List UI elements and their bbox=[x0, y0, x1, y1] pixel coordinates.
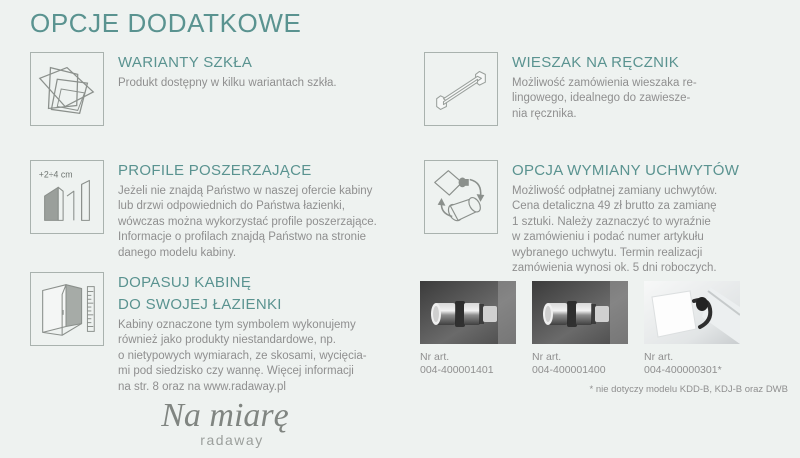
product-caption: Nr art. 004-400001401 bbox=[420, 351, 516, 377]
product-row: Nr art. 004-400001401 bbox=[420, 281, 790, 377]
feature-text: WARIANTY SZKŁA Produkt dostępny w kilku … bbox=[118, 52, 337, 91]
feature-text: DOPASUJ KABINĘ DO SWOJEJ ŁAZIENKI Kabiny… bbox=[118, 272, 367, 395]
towel-rail-icon bbox=[424, 52, 498, 126]
feature-body: Kabiny oznaczone tym symbolem wykonujemy… bbox=[118, 318, 367, 395]
feature-heading: WIESZAK NA RĘCZNIK bbox=[512, 54, 697, 71]
product-caption: Nr art. 004-400001400 bbox=[532, 351, 628, 377]
options-page: OPCJE DODATKOWE WARIANTY SZKŁA Produkt d… bbox=[0, 0, 800, 458]
logo-script-text: Na miarę bbox=[160, 397, 289, 434]
logo-artwork: Na miarę radaway bbox=[120, 392, 330, 452]
feature-heading: PROFILE POSZERZAJĄCE bbox=[118, 162, 377, 179]
product-card: Nr art. 004-400001400 bbox=[532, 281, 628, 377]
feature-glass-variants: WARIANTY SZKŁA Produkt dostępny w kilku … bbox=[30, 52, 337, 126]
product-card: Nr art. 004-400001401 bbox=[420, 281, 516, 377]
product-caption: Nr art. 004-400000301* bbox=[644, 351, 740, 377]
feature-text: PROFILE POSZERZAJĄCE Jeżeli nie znajdą P… bbox=[118, 160, 377, 261]
product-card: Nr art. 004-400000301* bbox=[644, 281, 740, 377]
chrome-knob-handle-photo bbox=[532, 281, 628, 344]
feature-heading: WARIANTY SZKŁA bbox=[118, 54, 337, 71]
feature-heading-line2: DO SWOJEJ ŁAZIENKI bbox=[118, 296, 367, 313]
handle-products: Nr art. 004-400001401 bbox=[420, 281, 790, 395]
extension-profile-icon-label: +2÷4 cm bbox=[39, 170, 73, 180]
glass-panes-icon bbox=[30, 52, 104, 126]
feature-body: Możliwość zamówienia wieszaka re- lingow… bbox=[512, 76, 697, 122]
na-miare-logo: Na miarę radaway bbox=[120, 392, 330, 452]
feature-extension-profiles: +2÷4 cm PROFILE POSZERZAJĄCE Jeżeli nie … bbox=[30, 160, 377, 261]
chrome-knob-handle-photo bbox=[420, 281, 516, 344]
products-footnote: * nie dotyczy modelu KDD-B, KDJ-B oraz D… bbox=[420, 384, 790, 395]
feature-handle-exchange: OPCJA WYMIANY UCHWYTÓW Możliwość odpłatn… bbox=[424, 160, 739, 276]
white-hook-handle-photo bbox=[644, 281, 740, 344]
feature-body: Jeżeli nie znajdą Państwo w naszej oferc… bbox=[118, 184, 377, 261]
handle-swap-icon bbox=[424, 160, 498, 234]
feature-body: Możliwość odpłatnej zamiany uchwytów. Ce… bbox=[512, 184, 739, 276]
logo-brand-text: radaway bbox=[200, 432, 263, 448]
feature-towel-rail: WIESZAK NA RĘCZNIK Możliwość zamówienia … bbox=[424, 52, 697, 126]
feature-text: OPCJA WYMIANY UCHWYTÓW Możliwość odpłatn… bbox=[512, 160, 739, 276]
feature-custom-fit: DOPASUJ KABINĘ DO SWOJEJ ŁAZIENKI Kabiny… bbox=[30, 272, 367, 395]
shower-cabin-ruler-icon bbox=[30, 272, 104, 346]
feature-heading-line1: DOPASUJ KABINĘ bbox=[118, 274, 367, 291]
feature-heading: OPCJA WYMIANY UCHWYTÓW bbox=[512, 162, 739, 179]
extension-profile-icon: +2÷4 cm bbox=[30, 160, 104, 234]
feature-body: Produkt dostępny w kilku wariantach szkł… bbox=[118, 76, 337, 91]
page-title: OPCJE DODATKOWE bbox=[30, 8, 301, 39]
feature-text: WIESZAK NA RĘCZNIK Możliwość zamówienia … bbox=[512, 52, 697, 122]
